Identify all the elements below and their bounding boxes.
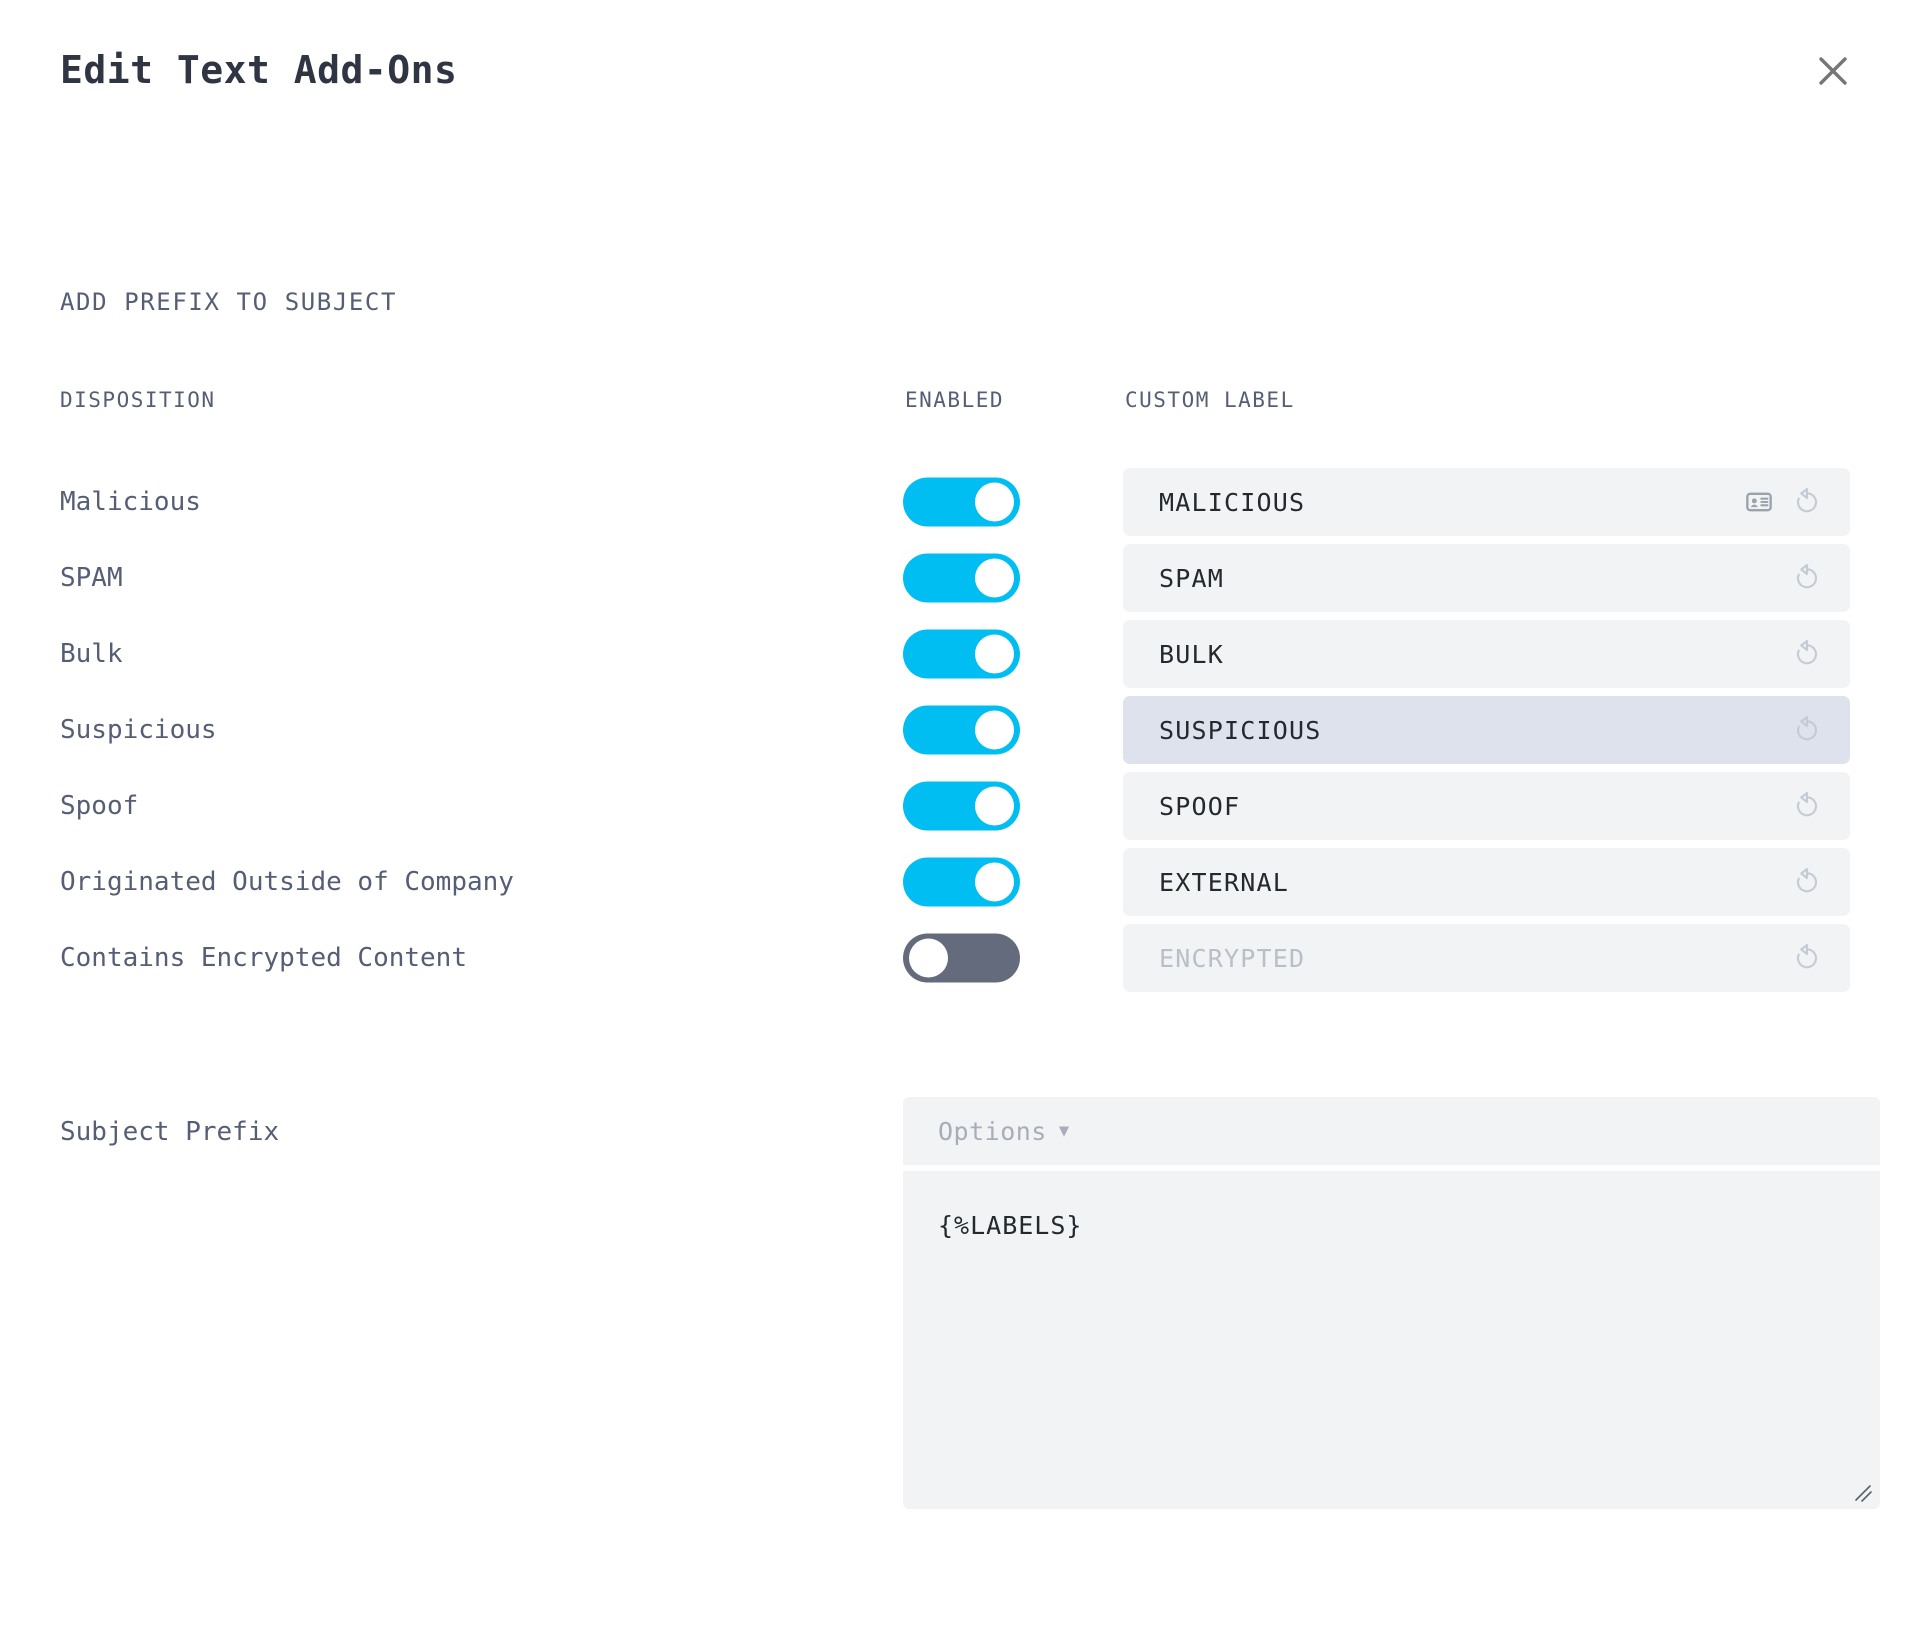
chevron-down-icon: ▼	[1059, 1123, 1069, 1140]
disposition-label: Bulk	[60, 639, 123, 669]
custom-label-value: SPOOF	[1159, 792, 1240, 821]
custom-label-input[interactable]: SUSPICIOUS	[1123, 696, 1850, 764]
custom-label-value: MALICIOUS	[1159, 488, 1305, 517]
column-header-enabled: ENABLED	[905, 388, 1004, 412]
reset-icon[interactable]	[1790, 713, 1824, 747]
table-row: SuspiciousSUSPICIOUS	[0, 692, 1908, 768]
enabled-toggle[interactable]	[903, 554, 1020, 603]
toggle-knob	[975, 863, 1014, 902]
toggle-knob	[975, 711, 1014, 750]
column-header-custom-label: CUSTOM LABEL	[1125, 388, 1295, 412]
enabled-toggle[interactable]	[903, 782, 1020, 831]
enabled-toggle[interactable]	[903, 478, 1020, 527]
custom-label-input[interactable]: BULK	[1123, 620, 1850, 688]
reset-icon[interactable]	[1790, 485, 1824, 519]
custom-label-input[interactable]: EXTERNAL	[1123, 848, 1850, 916]
field-icons	[1790, 865, 1824, 899]
toggle-knob	[909, 939, 948, 978]
custom-label-value: SPAM	[1159, 564, 1224, 593]
reset-icon[interactable]	[1790, 789, 1824, 823]
subject-prefix-textarea[interactable]: {%LABELS}	[903, 1171, 1880, 1509]
column-header-disposition: DISPOSITION	[60, 388, 216, 412]
options-dropdown-label: Options	[938, 1117, 1047, 1146]
reset-icon[interactable]	[1790, 637, 1824, 671]
field-icons	[1742, 485, 1824, 519]
custom-label-value: BULK	[1159, 640, 1224, 669]
disposition-label: Contains Encrypted Content	[60, 943, 467, 973]
custom-label-input[interactable]: SPAM	[1123, 544, 1850, 612]
field-icons	[1790, 789, 1824, 823]
disposition-label: Spoof	[60, 791, 138, 821]
dialog-title: Edit Text Add-Ons	[60, 48, 457, 92]
custom-label-input[interactable]: ENCRYPTED	[1123, 924, 1850, 992]
edit-text-addons-dialog: Edit Text Add-Ons ADD PREFIX TO SUBJECT …	[0, 0, 1908, 1650]
toggle-knob	[975, 635, 1014, 674]
field-icons	[1790, 941, 1824, 975]
subject-prefix-value: {%LABELS}	[938, 1211, 1082, 1240]
enabled-toggle[interactable]	[903, 858, 1020, 907]
options-dropdown[interactable]: Options ▼	[903, 1097, 1880, 1165]
disposition-label: Suspicious	[60, 715, 217, 745]
resize-handle-icon[interactable]	[1853, 1483, 1873, 1503]
disposition-label: SPAM	[60, 563, 123, 593]
field-icons	[1790, 561, 1824, 595]
toggle-knob	[975, 787, 1014, 826]
field-icons	[1790, 637, 1824, 671]
reset-icon[interactable]	[1790, 865, 1824, 899]
custom-label-input[interactable]: MALICIOUS	[1123, 468, 1850, 536]
contact-card-icon[interactable]	[1742, 485, 1776, 519]
field-icons	[1790, 713, 1824, 747]
enabled-toggle[interactable]	[903, 630, 1020, 679]
table-row: SPAMSPAM	[0, 540, 1908, 616]
toggle-knob	[975, 559, 1014, 598]
table-row: SpoofSPOOF	[0, 768, 1908, 844]
table-row: Originated Outside of CompanyEXTERNAL	[0, 844, 1908, 920]
table-row: Contains Encrypted ContentENCRYPTED	[0, 920, 1908, 996]
custom-label-value: EXTERNAL	[1159, 868, 1289, 897]
disposition-label: Originated Outside of Company	[60, 867, 514, 897]
toggle-knob	[975, 483, 1014, 522]
enabled-toggle[interactable]	[903, 934, 1020, 983]
enabled-toggle[interactable]	[903, 706, 1020, 755]
reset-icon[interactable]	[1790, 561, 1824, 595]
reset-icon[interactable]	[1790, 941, 1824, 975]
close-icon[interactable]	[1804, 42, 1862, 100]
section-label: ADD PREFIX TO SUBJECT	[60, 288, 397, 316]
subject-prefix-label: Subject Prefix	[60, 1117, 279, 1147]
custom-label-value: ENCRYPTED	[1159, 944, 1305, 973]
table-row: MaliciousMALICIOUS	[0, 464, 1908, 540]
disposition-label: Malicious	[60, 487, 201, 517]
custom-label-input[interactable]: SPOOF	[1123, 772, 1850, 840]
table-row: BulkBULK	[0, 616, 1908, 692]
custom-label-value: SUSPICIOUS	[1159, 716, 1322, 745]
